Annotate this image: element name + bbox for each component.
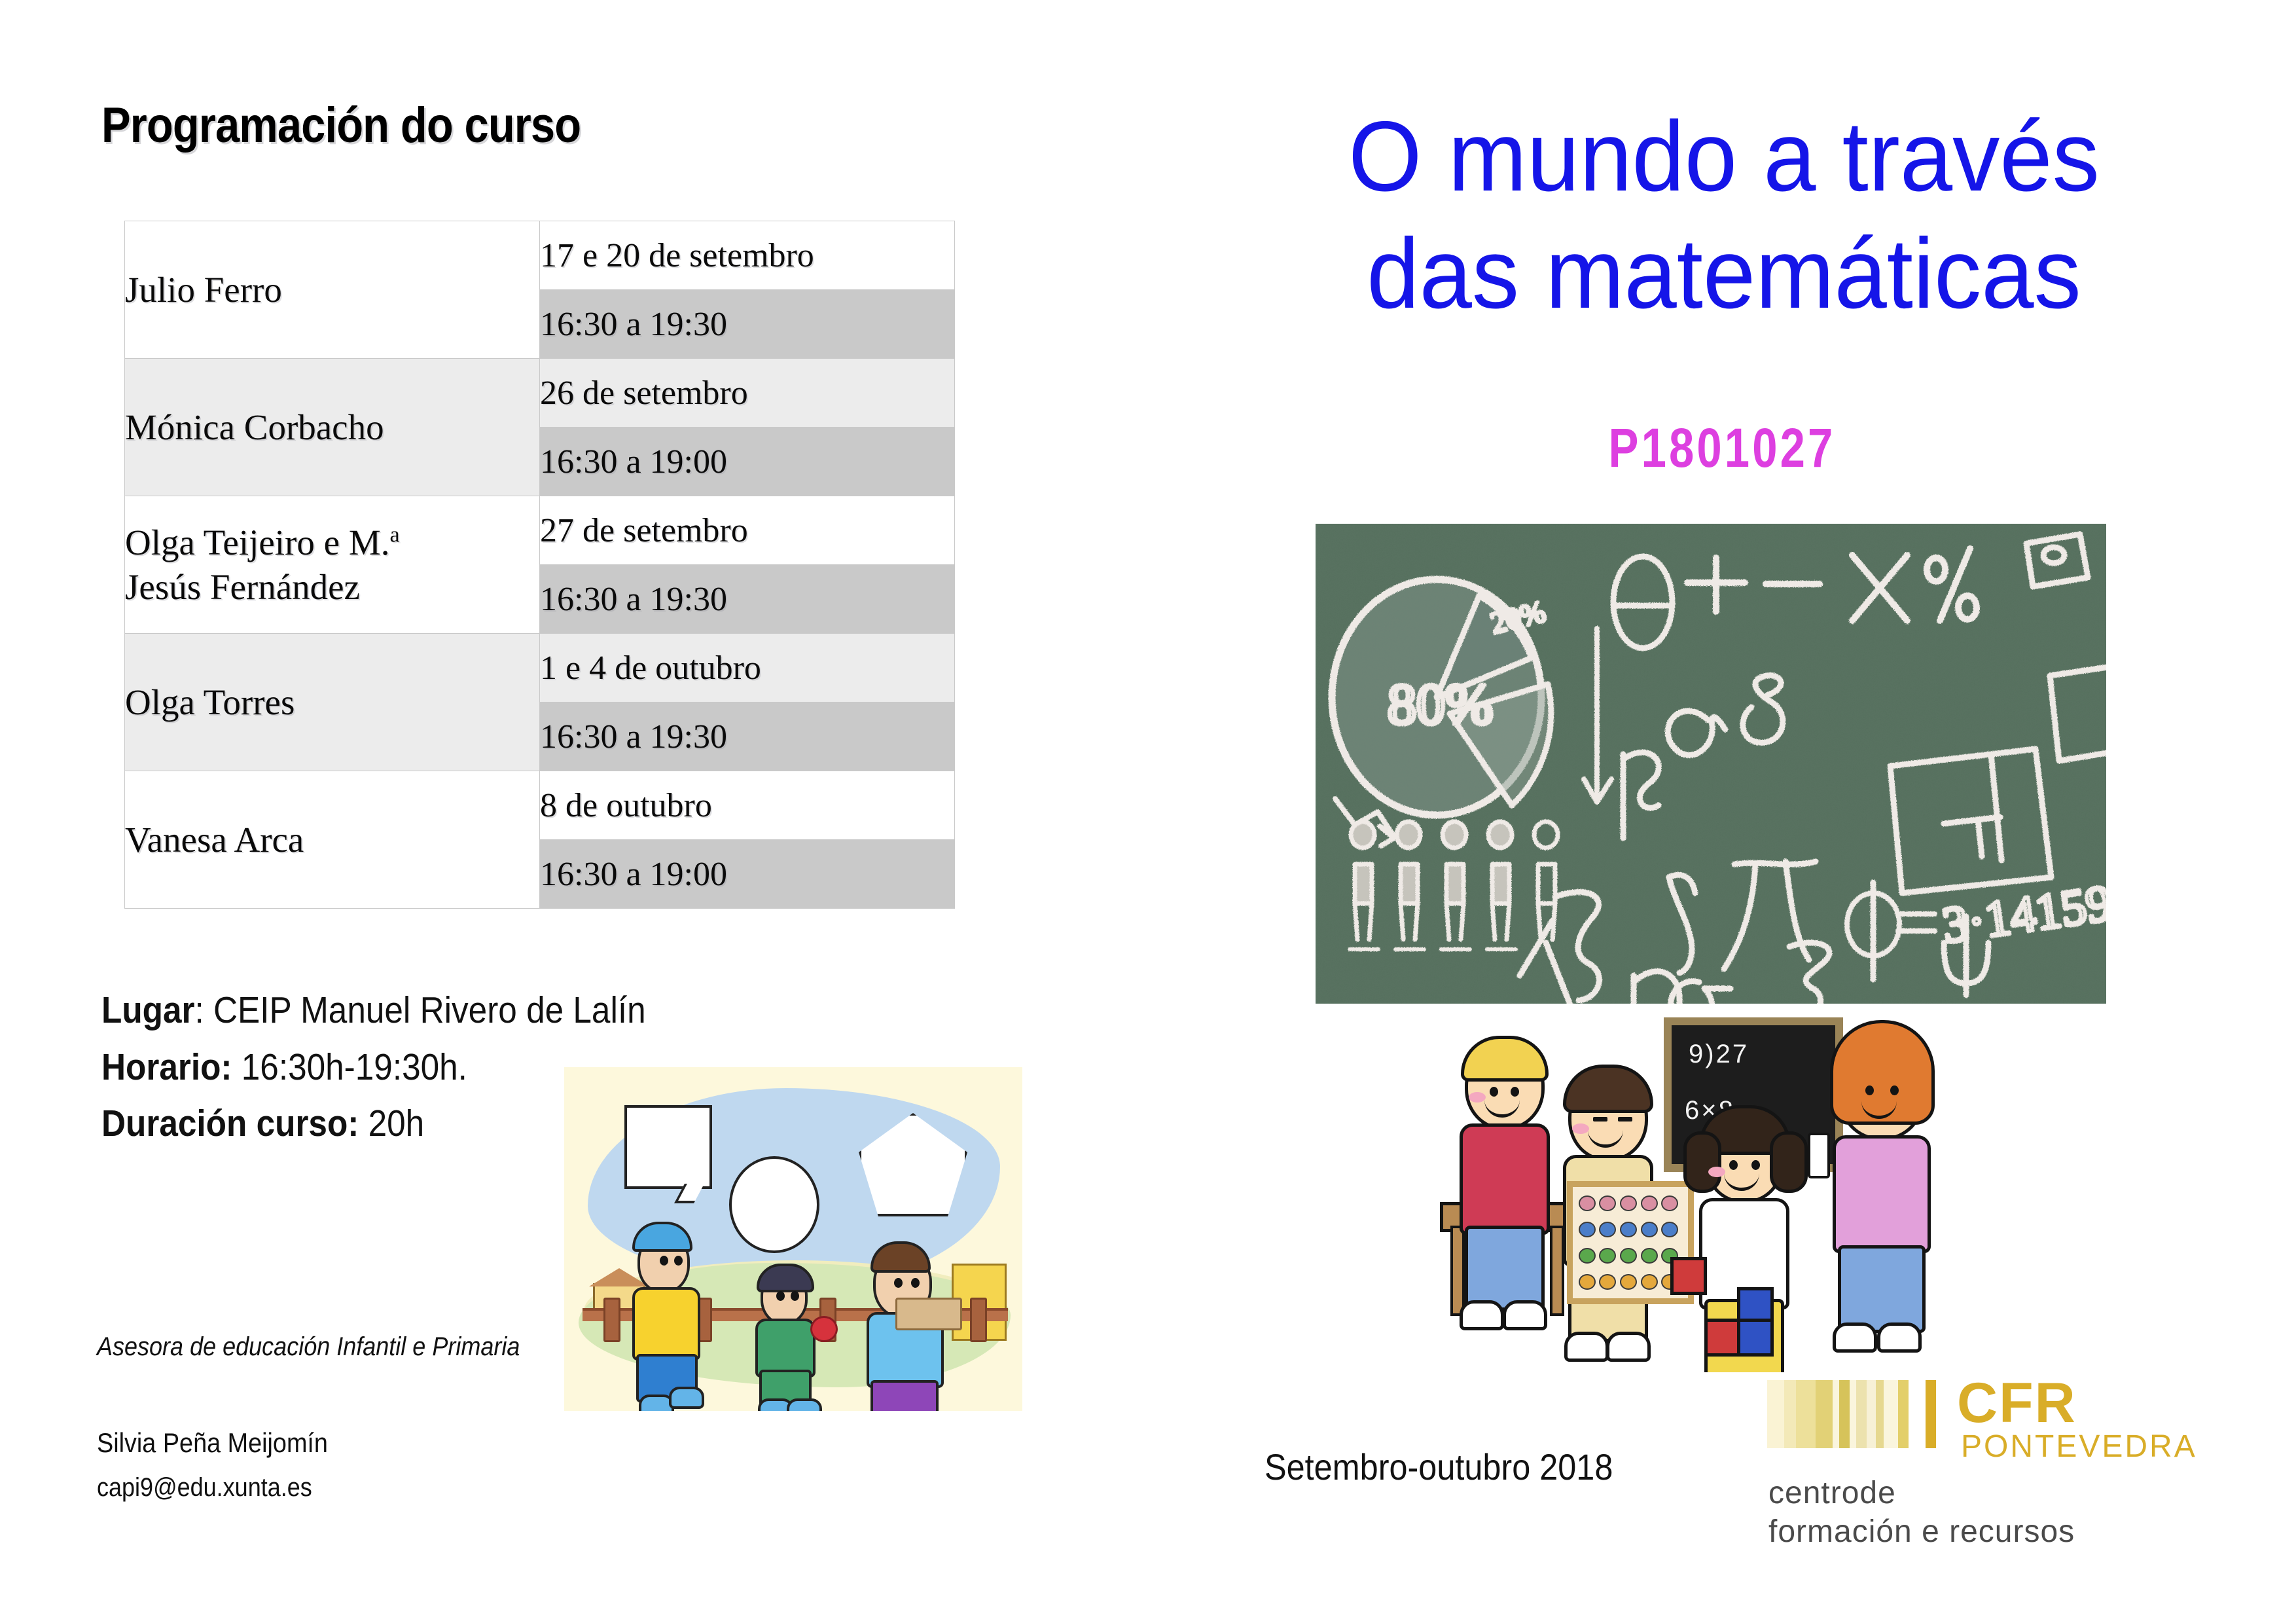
advisor-name: Silvia Peña Meijomín [97, 1427, 328, 1459]
legs [1465, 1226, 1545, 1311]
abacus-row [1577, 1196, 1680, 1211]
duration-label: Duración curso: [101, 1103, 359, 1144]
eye [1490, 1087, 1498, 1097]
torso [1460, 1123, 1550, 1235]
eye [894, 1278, 903, 1288]
block-red [1670, 1257, 1707, 1295]
torso [755, 1319, 816, 1377]
session-date-cell: 8 de outubro [540, 771, 955, 840]
torso [1833, 1135, 1931, 1253]
page-title: Programación do curso [101, 97, 581, 154]
boys-shapes-illustration [564, 1067, 1022, 1411]
course-title-line2: das matemáticas [1183, 215, 2265, 333]
apple-icon [810, 1316, 838, 1342]
presenter-name-cell: Olga Torres [125, 634, 540, 771]
blush [1469, 1092, 1486, 1103]
logo-tagline-line2: formación e recursos [1768, 1513, 2075, 1552]
venue-value: : CEIP Manuel Rivero de Lalín [195, 989, 646, 1031]
presenter-name-cell: Mónica Corbacho [125, 359, 540, 496]
fence-post [603, 1298, 620, 1342]
logo-bars [1767, 1380, 1936, 1448]
eye [1865, 1085, 1874, 1095]
duration-value: 20h [359, 1103, 424, 1144]
shoe [1606, 1332, 1651, 1362]
course-title-line1: O mundo a través [1183, 98, 2265, 215]
left-page: Programación do curso Julio Ferro 17 e 2… [0, 0, 1148, 1623]
pigtail-left [1683, 1131, 1721, 1193]
fence-post [970, 1298, 987, 1342]
eye [1729, 1160, 1738, 1170]
eye [911, 1278, 920, 1288]
table-row: Olga Teijeiro e M.a Jesús Fernández 27 d… [125, 496, 955, 565]
shoe [787, 1398, 822, 1411]
eye [1751, 1160, 1760, 1170]
eye [1511, 1087, 1519, 1097]
session-time-cell: 16:30 a 19:00 [540, 840, 955, 909]
shoe [1564, 1332, 1609, 1362]
eye [776, 1291, 785, 1301]
session-time-cell: 16:30 a 19:30 [540, 565, 955, 634]
abacus-row [1577, 1275, 1680, 1289]
schedule-table: Julio Ferro 17 e 20 de setembro 16:30 a … [124, 221, 955, 909]
circle-speech-bubble [729, 1156, 819, 1253]
venue-label: Lugar [101, 989, 195, 1031]
block-blue [1737, 1319, 1774, 1357]
eye [791, 1291, 799, 1301]
presenter-name-cell: Julio Ferro [125, 221, 540, 359]
ordinal-superscript: a [389, 523, 399, 547]
schedule-label: Horario: [101, 1046, 232, 1088]
session-date-cell: 1 e 4 de outubro [540, 634, 955, 702]
table-row: Mónica Corbacho 26 de setembro [125, 359, 955, 428]
date-range: Setembro-outubro 2018 [1265, 1446, 1613, 1488]
session-time-cell: 16:30 a 19:00 [540, 428, 955, 496]
block-red [1704, 1319, 1741, 1357]
logo-place: PONTEVEDRA [1961, 1431, 2197, 1463]
table-row: Julio Ferro 17 e 20 de setembro [125, 221, 955, 290]
eye [1890, 1085, 1899, 1095]
eye [1593, 1117, 1607, 1122]
table-row: Olga Torres 1 e 4 de outubro [125, 634, 955, 702]
session-date-cell: 17 e 20 de setembro [540, 221, 955, 290]
course-code: P1801027 [1251, 416, 2193, 480]
advisor-email: capi9@edu.xunta.es [97, 1473, 312, 1503]
desk-leg [1450, 1226, 1465, 1316]
venue-line: Lugar: CEIP Manuel Rivero de Lalín [101, 982, 646, 1039]
presenter-name-cell: Olga Teijeiro e M.a Jesús Fernández [125, 496, 540, 634]
eye [1618, 1117, 1632, 1122]
shoe [1460, 1300, 1504, 1330]
torso [632, 1287, 700, 1360]
abacus-row [1577, 1222, 1680, 1237]
course-title: O mundo a través das matemáticas [1183, 98, 2265, 333]
logo-brand: CFR [1957, 1375, 2077, 1431]
shoe [669, 1387, 704, 1409]
blush [1572, 1123, 1589, 1134]
session-date-cell: 27 de setembro [540, 496, 955, 565]
legs [1838, 1245, 1926, 1333]
abacus-row [1577, 1249, 1680, 1263]
eye [674, 1256, 683, 1266]
logo-tagline: centrode formación e recursos [1768, 1474, 2075, 1551]
classroom-kids-illustration: 9)27 6×8= [1428, 1006, 1958, 1372]
session-time-cell: 16:30 a 19:30 [540, 290, 955, 359]
hair [1563, 1065, 1653, 1113]
desk-leg [1550, 1226, 1564, 1316]
presenter-name-cell: Vanesa Arca [125, 771, 540, 909]
shoe [1877, 1322, 1922, 1353]
session-time-cell: 16:30 a 19:30 [540, 702, 955, 771]
svg-text:80%: 80% [1388, 673, 1493, 737]
square-speech-bubble [624, 1105, 712, 1189]
table-row: Vanesa Arca 8 de outubro [125, 771, 955, 840]
advisor-role: Asesora de educación Infantil e Primaria [97, 1332, 520, 1362]
chalkboard-image: 80% 20% [1316, 524, 2106, 1004]
shoe [1833, 1322, 1877, 1353]
hair [1461, 1036, 1549, 1082]
pencils-icon [895, 1298, 962, 1330]
cfr-logo: CFR PONTEVEDRA centrode formación e recu… [1767, 1375, 2219, 1545]
schedule-value: 16:30h-19:30h. [232, 1046, 467, 1088]
board-line-1: 9)27 [1689, 1040, 1749, 1069]
chalk-stick [1808, 1133, 1830, 1178]
legs [870, 1380, 939, 1411]
pigtail-right [1770, 1131, 1808, 1193]
shoe [1503, 1300, 1547, 1330]
blush [1708, 1167, 1725, 1177]
session-date-cell: 26 de setembro [540, 359, 955, 428]
right-page: O mundo a través das matemáticas P180102… [1148, 0, 2296, 1623]
logo-tagline-line1: centrode [1768, 1474, 2075, 1513]
eye [660, 1256, 668, 1266]
